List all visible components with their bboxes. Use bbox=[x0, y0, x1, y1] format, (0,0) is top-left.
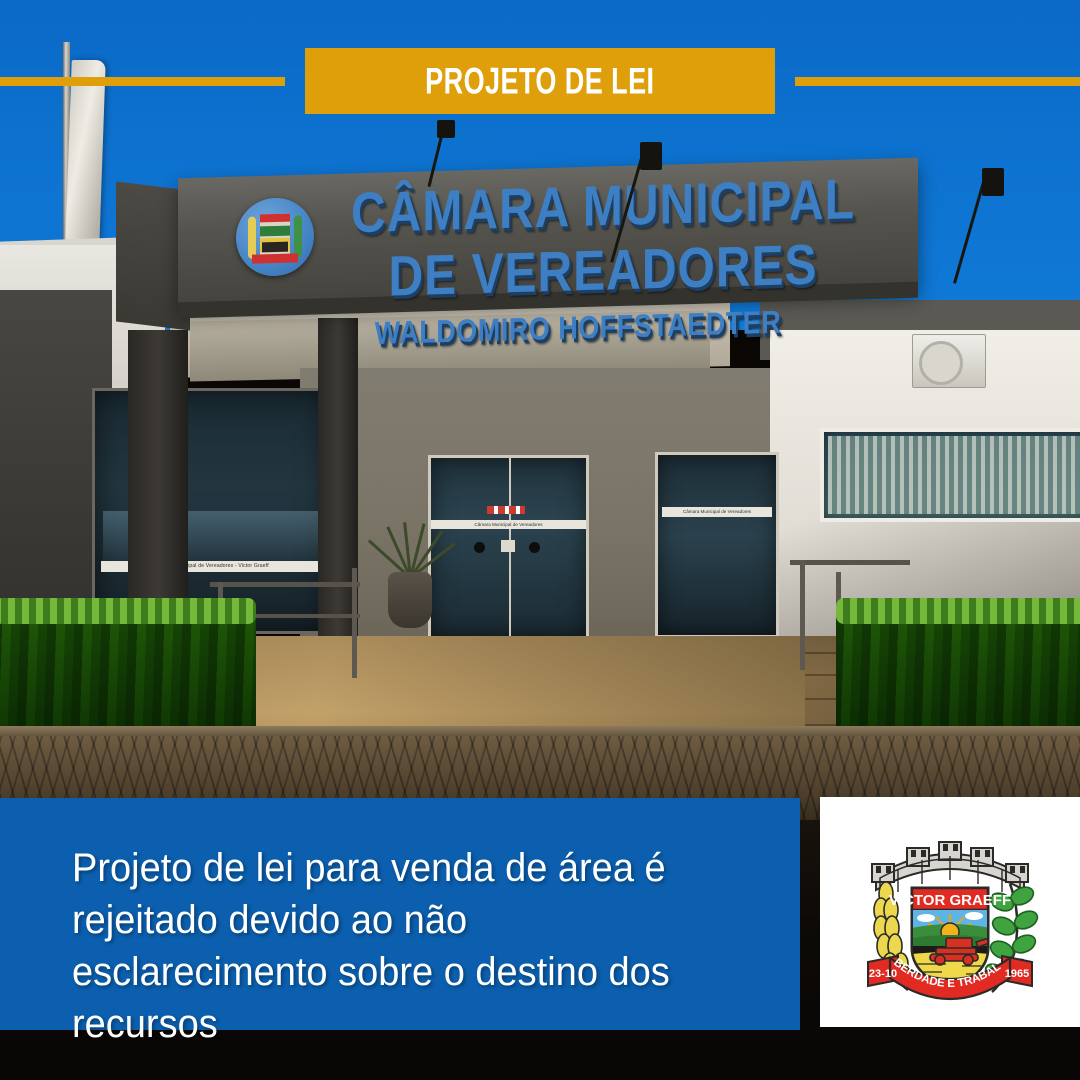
handrail-right-top bbox=[790, 560, 910, 565]
spotlight-head-1 bbox=[640, 142, 662, 170]
door-handle-right bbox=[529, 542, 540, 553]
handrail-post-right-1 bbox=[800, 560, 805, 670]
shield-municipality-text: VICTOR GRAEFF bbox=[889, 892, 1011, 909]
hedge-left-top bbox=[0, 598, 256, 624]
headline-text: Projeto de lei para venda de área é reje… bbox=[72, 842, 720, 1050]
right-window-sign-text: Câmara Municipal de Vereadores bbox=[662, 507, 772, 517]
building-sign-text: CÂMARA MUNICIPAL DE VEREADORES WALDOMIRO… bbox=[178, 162, 918, 313]
door-sign-band: Câmara Municipal de Vereadores bbox=[431, 520, 586, 529]
decorative-bar-right bbox=[795, 77, 1080, 86]
decorative-bar-left bbox=[0, 77, 285, 86]
air-conditioner-unit bbox=[912, 334, 986, 388]
door-lock-plate bbox=[501, 540, 515, 552]
flower-pot bbox=[388, 572, 432, 628]
coat-of-arms-icon: VICTOR GRAEFF bbox=[850, 814, 1050, 1010]
spotlight-head-2 bbox=[982, 168, 1004, 196]
palm-plant bbox=[381, 508, 441, 578]
door-handle-left bbox=[474, 542, 485, 553]
social-media-post: Câmara Municipal de Vereadores - Victor … bbox=[0, 0, 1080, 1080]
handrail-left-top bbox=[210, 582, 360, 587]
right-glass-wall: Câmara Municipal de Vereadores bbox=[655, 452, 779, 638]
right-window bbox=[820, 428, 1080, 522]
coat-of-arms-panel: VICTOR GRAEFF bbox=[820, 797, 1080, 1027]
spotlight-head-3 bbox=[437, 120, 455, 138]
door-sign-text: Câmara Municipal de Vereadores bbox=[431, 520, 586, 529]
banner-title-text: PROJETO DE LEI bbox=[425, 60, 654, 103]
banner-title-box: PROJETO DE LEI bbox=[305, 48, 775, 114]
door-sticker bbox=[487, 506, 525, 514]
ribbon-date-text: 23-10 bbox=[869, 968, 897, 980]
handrail-post-left-2 bbox=[352, 568, 357, 678]
headline-panel: Projeto de lei para venda de área é reje… bbox=[0, 798, 800, 1030]
hedge-right-top bbox=[836, 598, 1080, 624]
ribbon-year-text: 1965 bbox=[1005, 968, 1029, 980]
